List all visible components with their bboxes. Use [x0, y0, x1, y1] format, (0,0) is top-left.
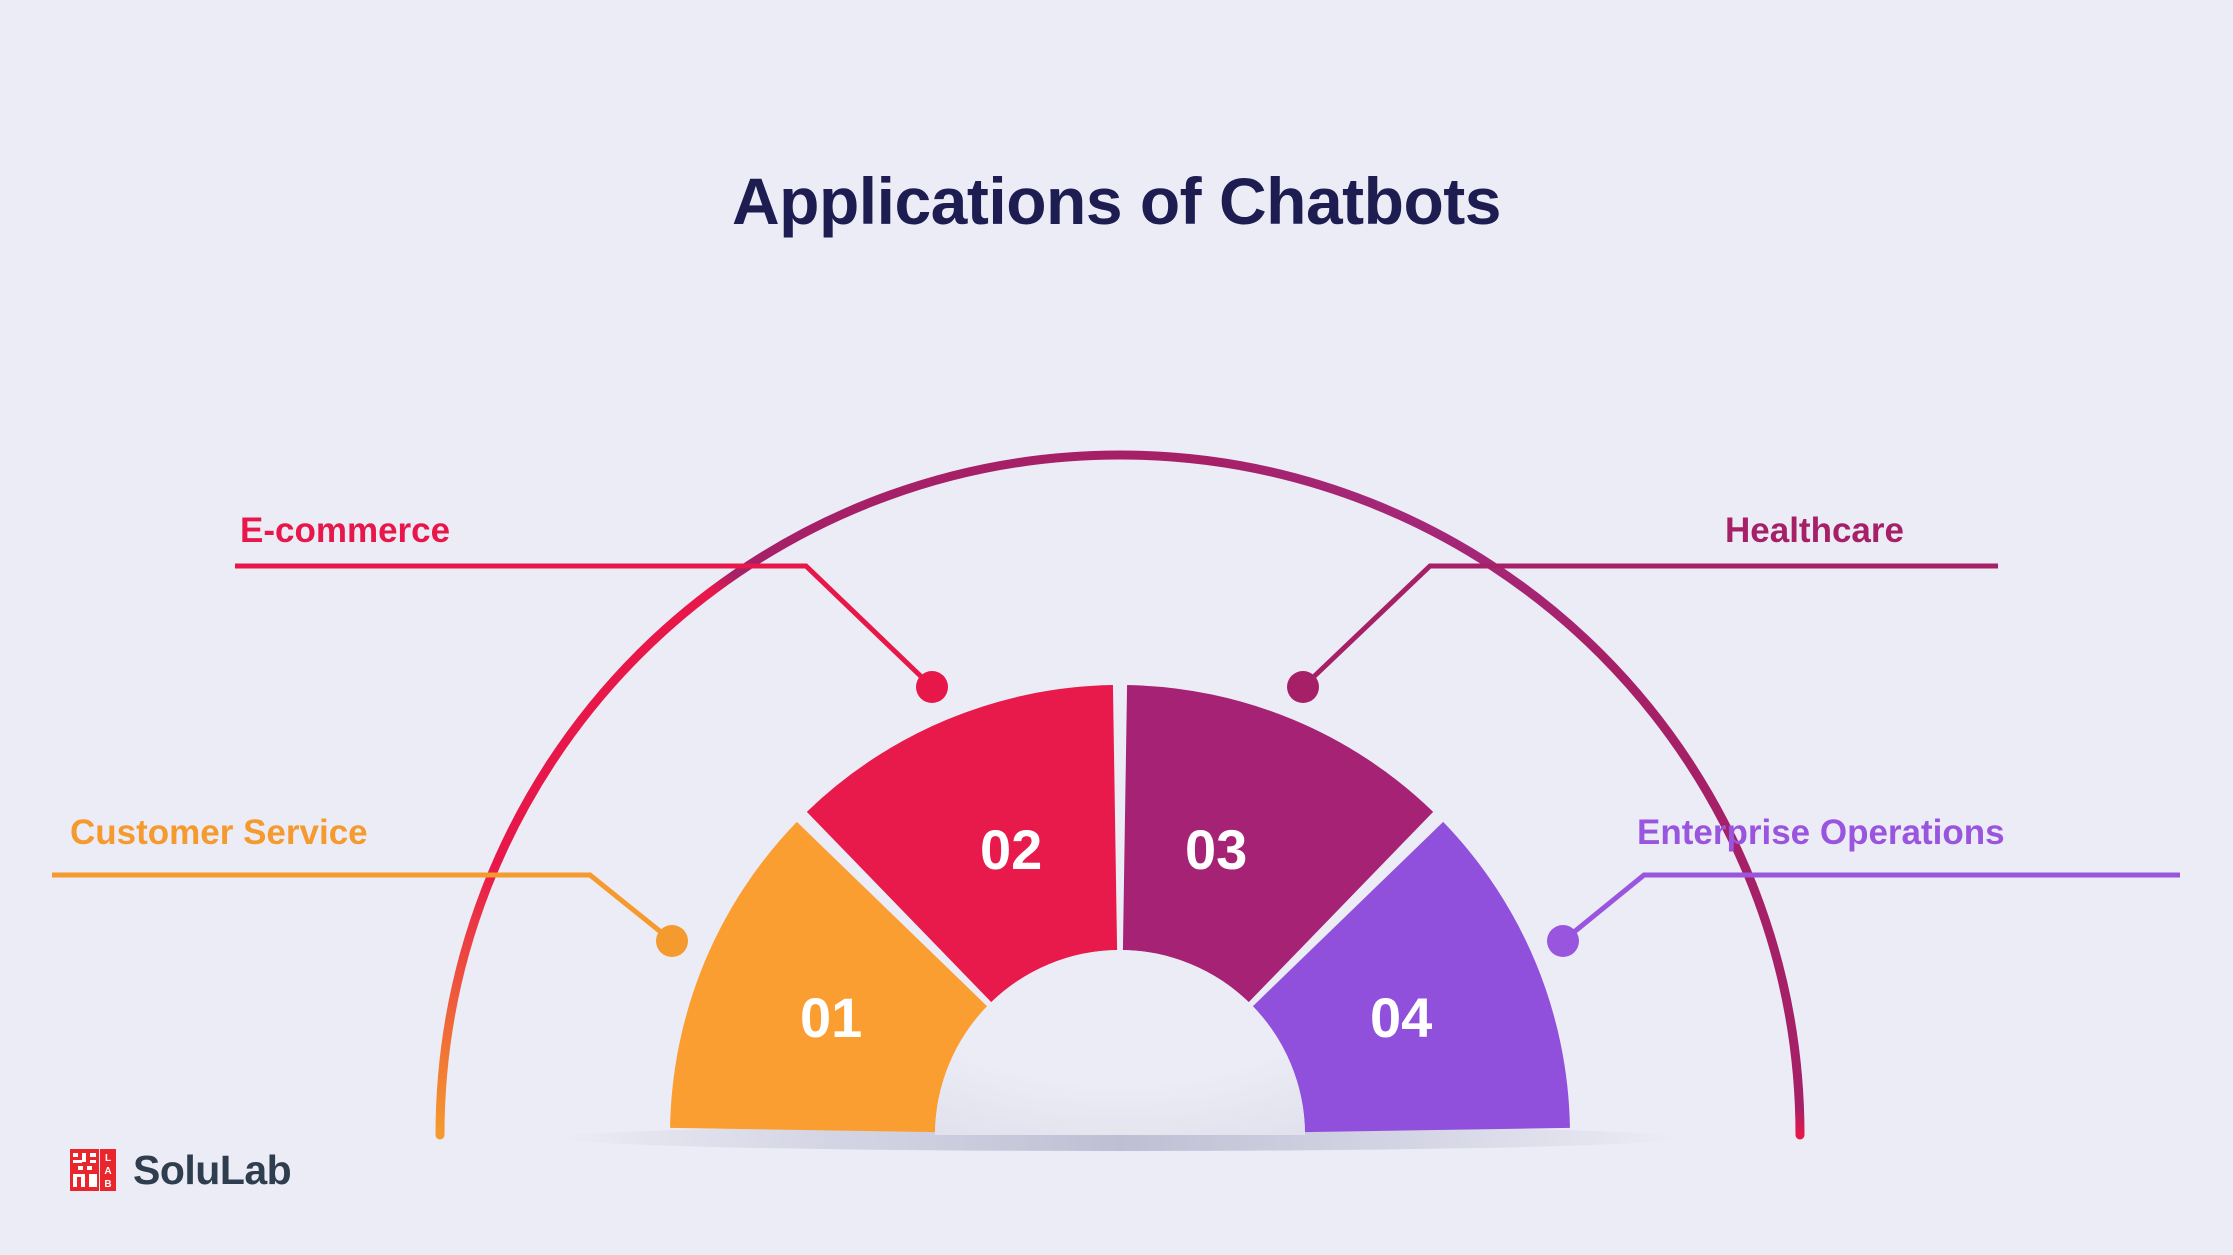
callout-label-healthcare[interactable]: Healthcare [1725, 513, 1904, 548]
connector-customer-service [52, 875, 688, 957]
callout-label-customer-service[interactable]: Customer Service [70, 815, 368, 850]
svg-text:B: B [104, 1179, 111, 1190]
connector-dot-e-commerce [916, 671, 948, 703]
connector-dot-customer-service [656, 925, 688, 957]
connector-dot-enterprise-operations [1547, 925, 1579, 957]
segment-number-04: 04 [1370, 990, 1432, 1046]
connector-healthcare [1287, 566, 1998, 703]
segment-number-02: 02 [980, 822, 1042, 878]
brand-logo[interactable]: L A B SoluLab [70, 1147, 291, 1193]
segment-number-03: 03 [1185, 822, 1247, 878]
connector-dot-healthcare [1287, 671, 1319, 703]
brand-wordmark: SoluLab [133, 1150, 291, 1191]
svg-text:A: A [104, 1166, 111, 1177]
infographic-canvas: Applications of Chatbots E-commerce Heal… [0, 0, 2233, 1255]
callout-label-e-commerce[interactable]: E-commerce [240, 513, 450, 548]
solulab-mark-icon: L A B [70, 1147, 116, 1193]
callout-label-enterprise-operations[interactable]: Enterprise Operations [1637, 815, 2005, 850]
page-title: Applications of Chatbots [0, 168, 2233, 234]
connector-e-commerce [235, 566, 948, 703]
svg-text:L: L [105, 1153, 111, 1164]
connector-enterprise-operations [1547, 875, 2180, 957]
segment-number-01: 01 [800, 990, 862, 1046]
